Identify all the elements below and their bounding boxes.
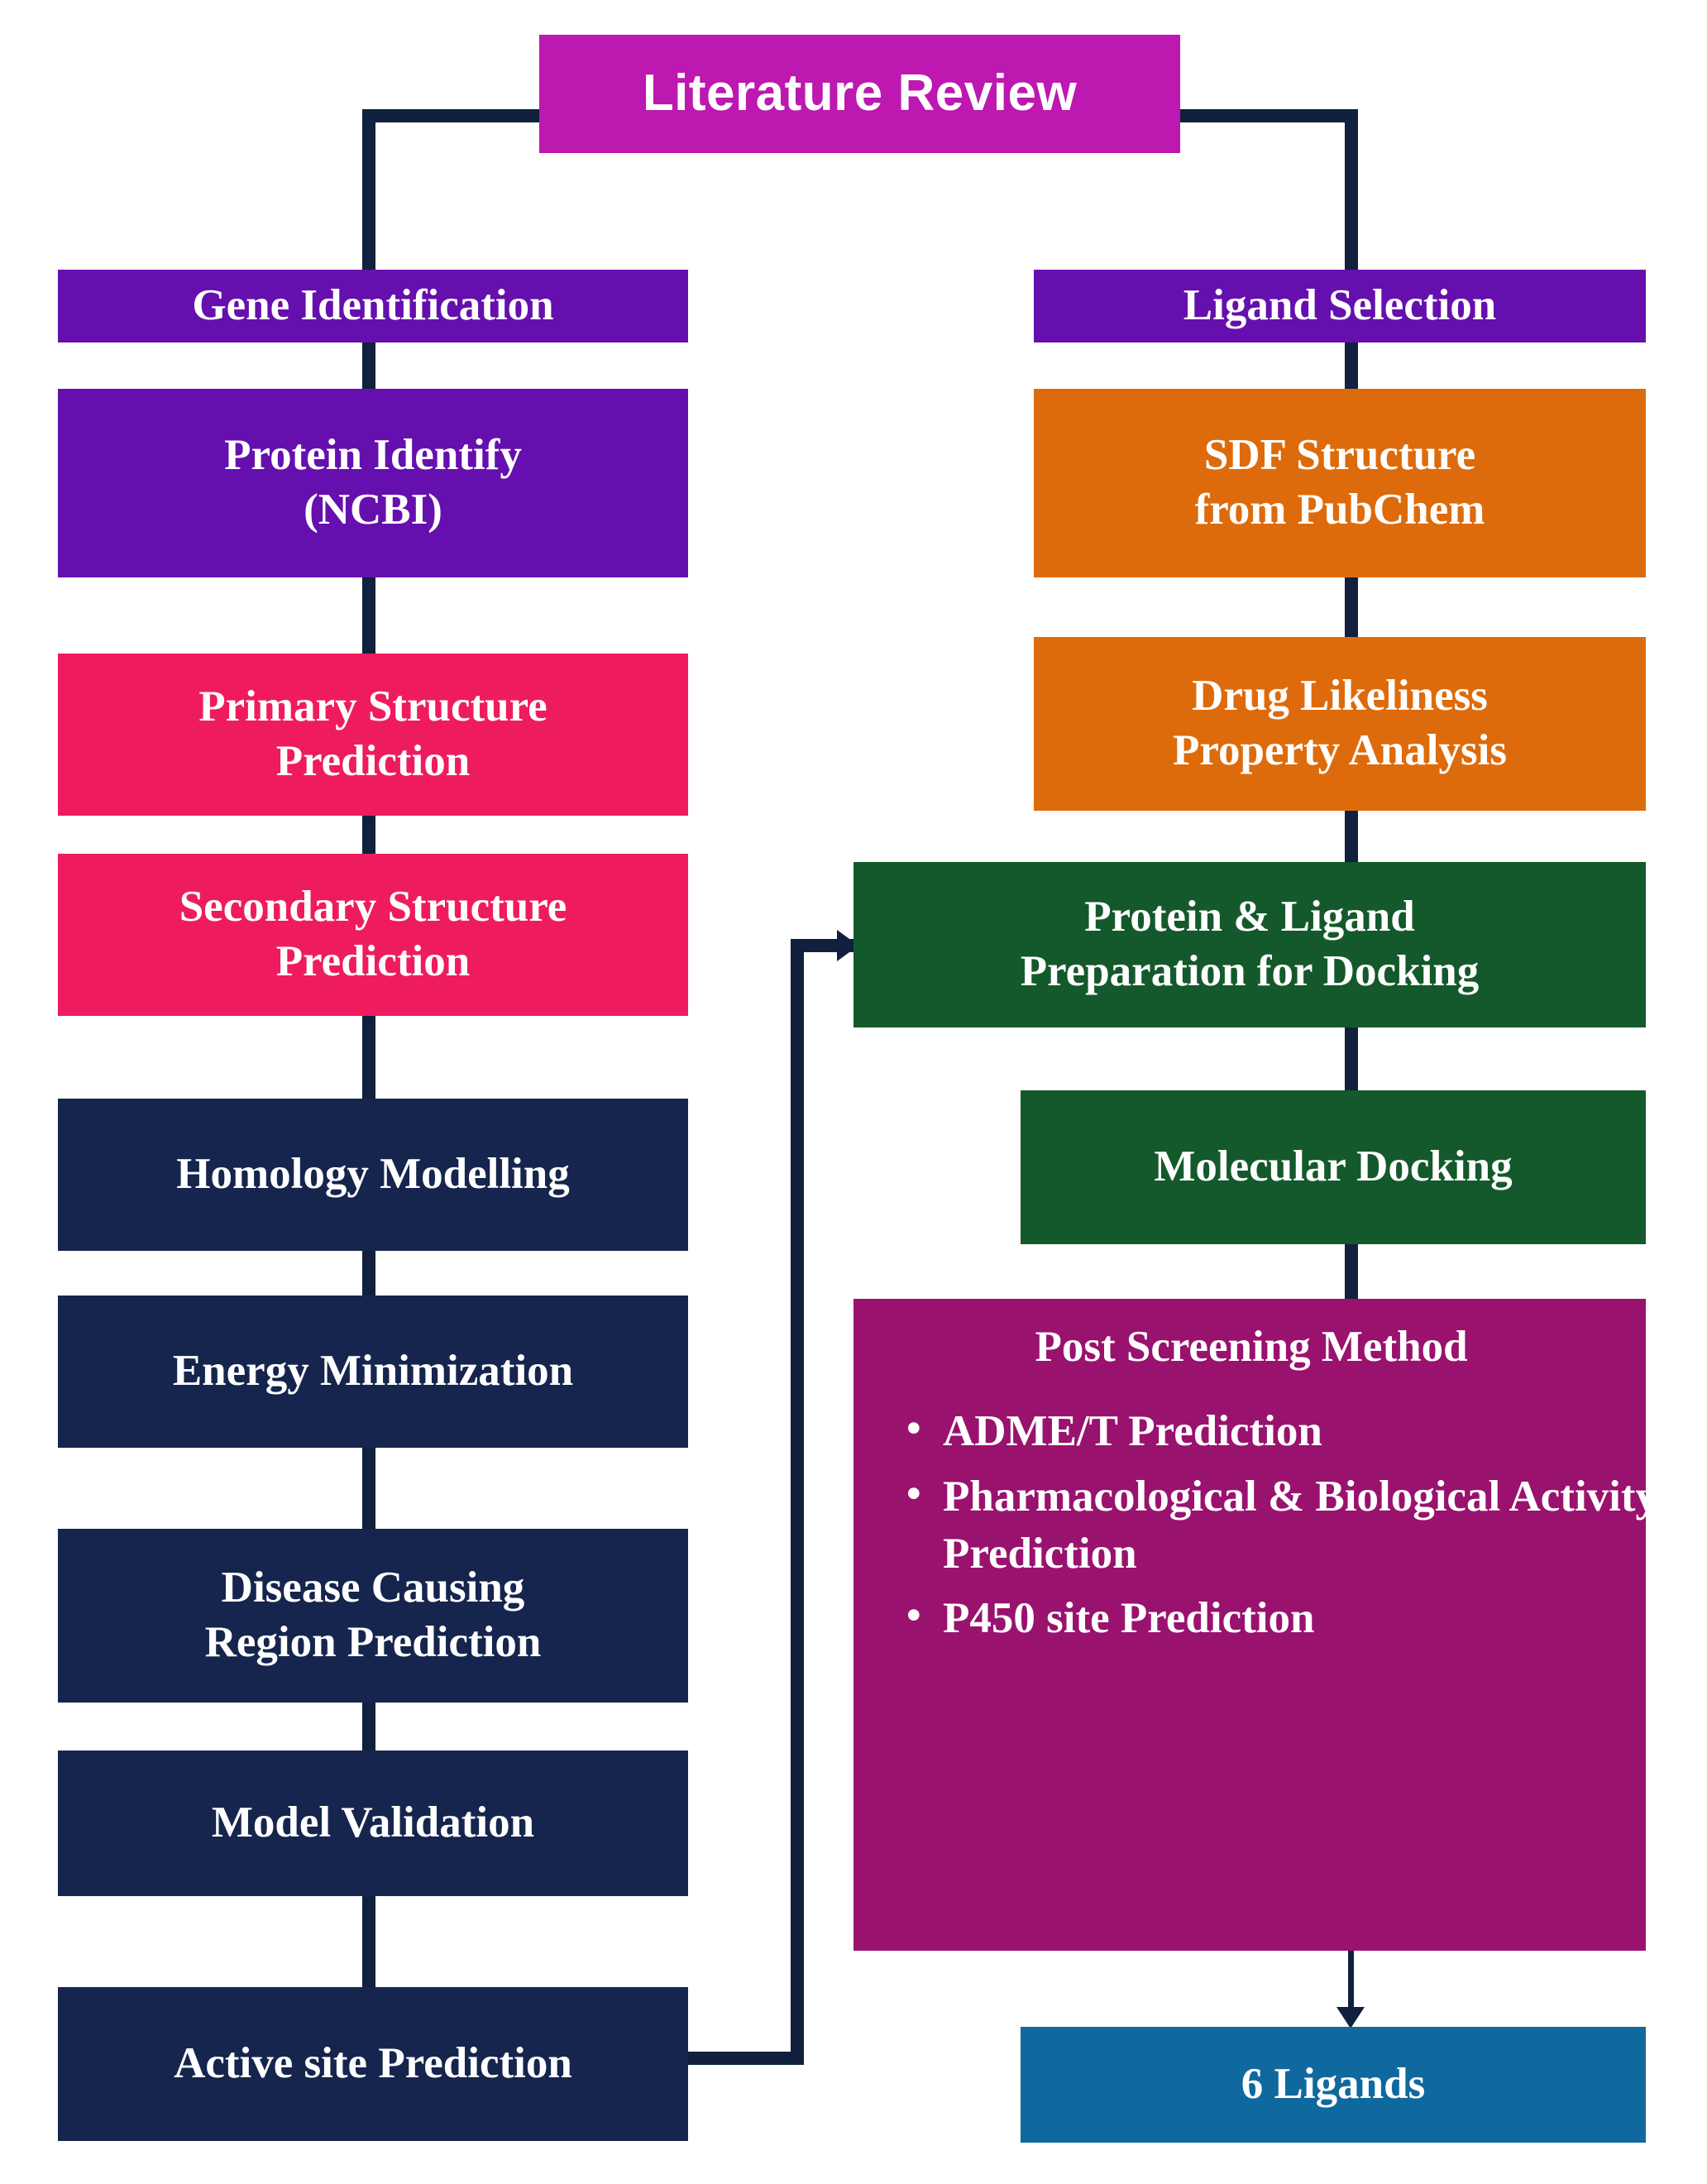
node-disease-causing-region-prediction[interactable]: Disease Causing Region Prediction [58,1529,688,1703]
bullet-item-pharmacological: Pharmacological & Biological Activity Pr… [943,1468,1682,1583]
node-molecular-docking[interactable]: Molecular Docking [1021,1090,1646,1244]
node-secondary-structure-prediction[interactable]: Secondary Structure Prediction [58,854,688,1016]
node-protein-identify-line-1: Protein Identify [58,429,688,483]
connector-feedback-horizontal-bottom [688,2052,804,2065]
node-model-validation-label: Model Validation [58,1796,688,1851]
node-primary-structure-prediction[interactable]: Primary Structure Prediction [58,654,688,816]
node-six-ligands-label: 6 Ligands [1021,2057,1646,2112]
node-energy-minimization[interactable]: Energy Minimization [58,1296,688,1448]
node-drug-likeness-line-1: Drug Likeliness [1034,669,1646,724]
node-disease-causing-region-prediction-line-1: Disease Causing [58,1561,688,1616]
node-energy-minimization-label: Energy Minimization [58,1344,688,1399]
node-protein-ligand-preparation-line-1: Protein & Ligand [853,890,1646,945]
node-post-screening-method-heading: Post Screening Method [882,1320,1621,1375]
node-gene-identification[interactable]: Gene Identification [58,270,688,342]
node-model-validation[interactable]: Model Validation [58,1751,688,1896]
node-homology-modelling-label: Homology Modelling [58,1147,688,1202]
node-literature-review-label: Literature Review [539,62,1180,126]
arrowhead-to-six-ligands-icon [1336,2007,1365,2028]
node-protein-identify[interactable]: Protein Identify (NCBI) [58,389,688,577]
node-primary-structure-prediction-line-1: Primary Structure [58,680,688,735]
node-sdf-structure-from-pubchem[interactable]: SDF Structure from PubChem [1034,389,1646,577]
node-protein-ligand-preparation[interactable]: Protein & Ligand Preparation for Docking [853,862,1646,1027]
bullet-item-p450: P450 site Prediction [943,1590,1682,1647]
node-secondary-structure-prediction-line-2: Prediction [58,935,688,989]
node-ligand-selection-label: Ligand Selection [1034,279,1646,333]
node-drug-likeness-property-analysis[interactable]: Drug Likeliness Property Analysis [1034,637,1646,811]
node-literature-review[interactable]: Literature Review [539,35,1180,153]
node-active-site-prediction-label: Active site Prediction [58,2037,688,2091]
node-protein-identify-line-2: (NCBI) [58,483,688,538]
flowchart-canvas: Literature Review Gene Identification Pr… [0,0,1707,2184]
bullet-item-admet: ADME/T Prediction [943,1403,1682,1460]
node-ligand-selection[interactable]: Ligand Selection [1034,270,1646,342]
node-sdf-structure-line-1: SDF Structure [1034,429,1646,483]
connector-feedback-vertical [791,939,804,2065]
node-six-ligands[interactable]: 6 Ligands [1021,2027,1646,2143]
node-molecular-docking-label: Molecular Docking [1021,1140,1646,1195]
node-gene-identification-label: Gene Identification [58,279,688,333]
node-primary-structure-prediction-line-2: Prediction [58,735,688,789]
node-drug-likeness-line-2: Property Analysis [1034,724,1646,778]
node-homology-modelling[interactable]: Homology Modelling [58,1099,688,1251]
node-active-site-prediction[interactable]: Active site Prediction [58,1987,688,2141]
node-sdf-structure-line-2: from PubChem [1034,483,1646,538]
node-secondary-structure-prediction-line-1: Secondary Structure [58,880,688,935]
node-disease-causing-region-prediction-line-2: Region Prediction [58,1616,688,1670]
node-protein-ligand-preparation-line-2: Preparation for Docking [853,945,1646,999]
post-screening-bullet-list: ADME/T Prediction Pharmacological & Biol… [882,1403,1682,1656]
node-post-screening-method[interactable]: Post Screening Method ADME/T Prediction … [853,1299,1646,1951]
connector-to-six-ligands [1348,1949,1354,2014]
